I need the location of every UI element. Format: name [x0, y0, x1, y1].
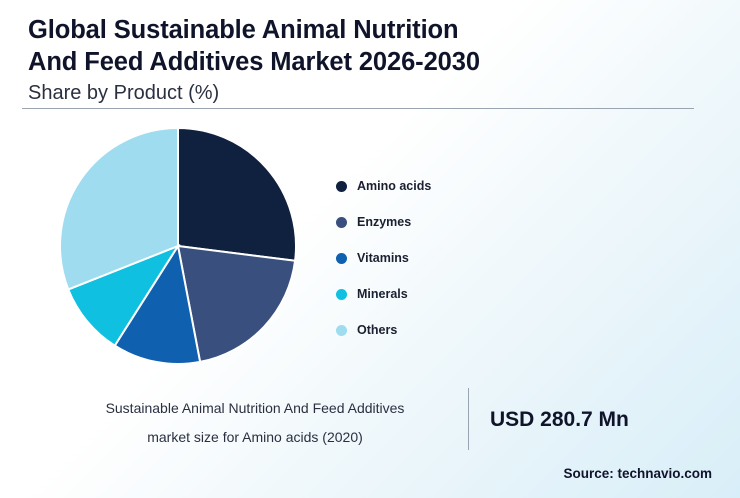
page-subtitle: Share by Product (%) — [28, 82, 708, 105]
pie-slice — [178, 128, 296, 261]
source-label: Source: technavio.com — [563, 466, 712, 481]
footer-block: Sustainable Animal Nutrition And Feed Ad… — [0, 386, 740, 456]
footer-divider — [468, 388, 469, 450]
footer-value: USD 280.7 Mn — [490, 408, 629, 432]
footer-caption-line2: market size for Amino acids (2020) — [55, 423, 455, 452]
pie-slice-group — [60, 128, 296, 364]
chart-legend: Amino acids Enzymes Vitamins Minerals Ot… — [336, 168, 536, 348]
legend-label-others: Others — [357, 323, 397, 337]
pie-chart-svg — [60, 118, 320, 376]
legend-label-minerals: Minerals — [357, 287, 408, 301]
legend-label-amino-acids: Amino acids — [357, 179, 431, 193]
legend-label-enzymes: Enzymes — [357, 215, 411, 229]
legend-label-vitamins: Vitamins — [357, 251, 409, 265]
legend-item-amino-acids[interactable]: Amino acids — [336, 168, 536, 204]
legend-item-others[interactable]: Others — [336, 312, 536, 348]
footer-caption-line1: Sustainable Animal Nutrition And Feed Ad… — [55, 394, 455, 423]
legend-item-minerals[interactable]: Minerals — [336, 276, 536, 312]
page-title: Global Sustainable Animal Nutrition And … — [28, 14, 708, 78]
legend-item-enzymes[interactable]: Enzymes — [336, 204, 536, 240]
legend-swatch-enzymes — [336, 217, 347, 228]
page-title-line1: Global Sustainable Animal Nutrition — [28, 14, 708, 46]
footer-caption: Sustainable Animal Nutrition And Feed Ad… — [55, 394, 455, 453]
pie-chart — [60, 118, 320, 376]
legend-swatch-others — [336, 325, 347, 336]
legend-swatch-minerals — [336, 289, 347, 300]
title-block: Global Sustainable Animal Nutrition And … — [28, 14, 708, 105]
legend-item-vitamins[interactable]: Vitamins — [336, 240, 536, 276]
infographic-page: Global Sustainable Animal Nutrition And … — [0, 0, 740, 498]
legend-swatch-vitamins — [336, 253, 347, 264]
legend-swatch-amino-acids — [336, 181, 347, 192]
page-title-line2: And Feed Additives Market 2026-2030 — [28, 46, 708, 78]
header-divider — [22, 108, 694, 109]
